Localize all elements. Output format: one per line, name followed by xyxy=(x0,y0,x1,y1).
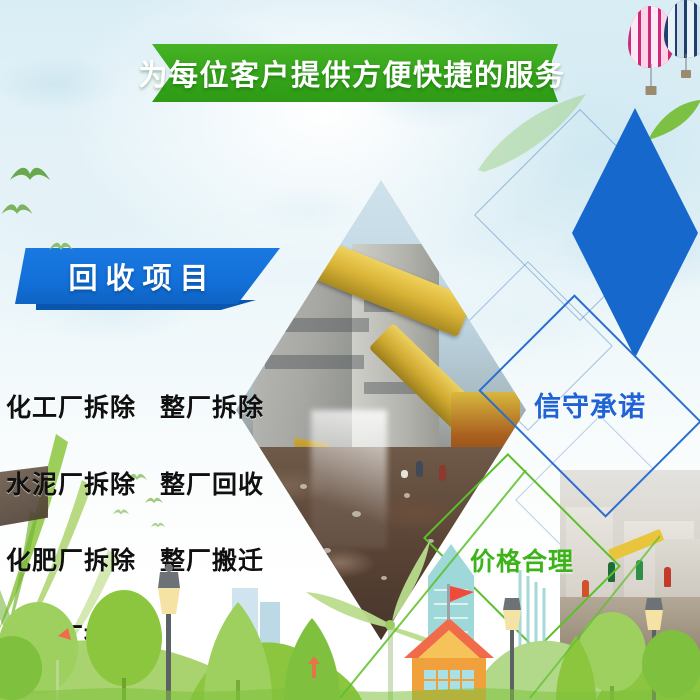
promise-badge-text: 信守承诺 xyxy=(505,380,675,428)
service-item: 塑料厂拆除 xyxy=(6,617,136,653)
bird-icon xyxy=(112,506,130,519)
bird-icon xyxy=(150,520,166,531)
section-banner-text: 回收项目 xyxy=(15,248,270,304)
bird-icon xyxy=(8,160,52,190)
service-item: 整厂回收 xyxy=(160,465,264,501)
service-item: 水泥厂拆除 xyxy=(6,465,136,501)
decor-diagonal-lines xyxy=(330,470,660,700)
service-item: 整厂搬迁 xyxy=(160,541,264,577)
poster-canvas: 为每位客户提供方便快捷的服务 回收项目 xyxy=(0,0,700,700)
service-item: 整厂拆除 xyxy=(160,388,264,424)
service-item: 化工厂拆除 xyxy=(6,388,136,424)
header-ribbon-text: 为每位客户提供方便快捷的服务 xyxy=(152,44,552,102)
service-item: 化肥厂拆除 xyxy=(6,541,136,577)
bird-icon xyxy=(0,198,34,222)
hot-air-balloon-right xyxy=(664,0,700,58)
leaf-icon xyxy=(646,100,700,146)
